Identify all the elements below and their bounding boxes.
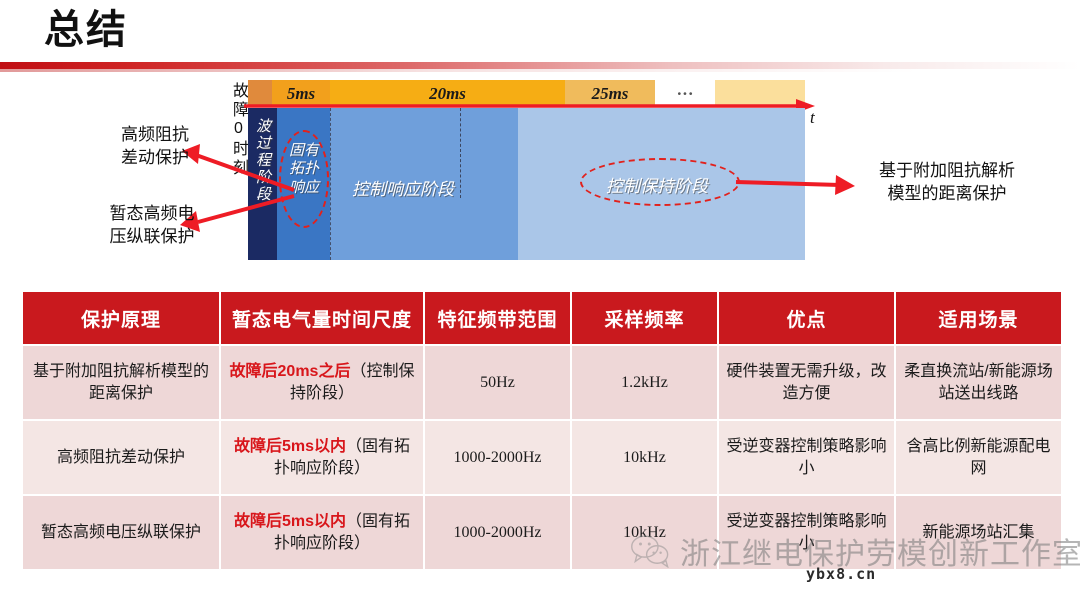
cell-scenario: 含高比例新能源配电网: [896, 421, 1061, 494]
cell-principle: 高频阻抗差动保护: [23, 421, 219, 494]
cell-timescale-highlight: 故障后5ms以内: [234, 513, 346, 530]
table-header-principle: 保护原理: [23, 292, 219, 344]
comparison-table: 保护原理 暂态电气量时间尺度 特征频带范围 采样频率 优点 适用场景 基于附加阻…: [21, 290, 1063, 571]
table-row: 暂态高频电压纵联保护 故障后5ms以内（固有拓扑响应阶段） 1000-2000H…: [23, 496, 1061, 569]
site-watermark: ybx8.cn: [806, 565, 876, 583]
table-row: 高频阻抗差动保护 故障后5ms以内（固有拓扑响应阶段） 1000-2000Hz …: [23, 421, 1061, 494]
table-header-band: 特征频带范围: [425, 292, 570, 344]
table-row: 基于附加阻抗解析模型的距离保护 故障后20ms之后（控制保持阶段） 50Hz 1…: [23, 346, 1061, 419]
timeline-diagram: 故障0时刻 5ms 20ms 25ms ··· t 波过程阶段 固有 拓扑 响应…: [0, 0, 1080, 290]
cell-principle: 暂态高频电压纵联保护: [23, 496, 219, 569]
cell-advantage: 受逆变器控制策略影响小: [719, 421, 894, 494]
table-header-sampling: 采样频率: [572, 292, 717, 344]
callout-hf-impedance-differential: 高频阻抗 差动保护: [90, 124, 220, 170]
cell-scenario: 新能源场站汇集: [896, 496, 1061, 569]
cell-timescale: 故障后5ms以内（固有拓扑响应阶段）: [221, 421, 423, 494]
cell-timescale-highlight: 故障后5ms以内: [234, 438, 346, 455]
callout-additional-impedance-distance: 基于附加阻抗解析 模型的距离保护: [852, 160, 1042, 206]
table-header-scenario: 适用场景: [896, 292, 1061, 344]
cell-principle: 基于附加阻抗解析模型的距离保护: [23, 346, 219, 419]
cell-timescale-highlight: 故障后20ms之后: [230, 363, 351, 380]
cell-timescale: 故障后5ms以内（固有拓扑响应阶段）: [221, 496, 423, 569]
cell-timescale: 故障后20ms之后（控制保持阶段）: [221, 346, 423, 419]
callout-transient-hf-voltage-pilot: 暂态高频电 压纵联保护: [82, 203, 222, 249]
cell-band: 50Hz: [425, 346, 570, 419]
cell-advantage: 硬件装置无需升级，改造方便: [719, 346, 894, 419]
cell-advantage: 受逆变器控制策略影响小: [719, 496, 894, 569]
cell-sampling: 1.2kHz: [572, 346, 717, 419]
cell-band: 1000-2000Hz: [425, 421, 570, 494]
cell-sampling: 10kHz: [572, 496, 717, 569]
cell-band: 1000-2000Hz: [425, 496, 570, 569]
table-header-timescale: 暂态电气量时间尺度: [221, 292, 423, 344]
cell-scenario: 柔直换流站/新能源场站送出线路: [896, 346, 1061, 419]
table-header-row: 保护原理 暂态电气量时间尺度 特征频带范围 采样频率 优点 适用场景: [23, 292, 1061, 344]
table-header-advantage: 优点: [719, 292, 894, 344]
cell-sampling: 10kHz: [572, 421, 717, 494]
